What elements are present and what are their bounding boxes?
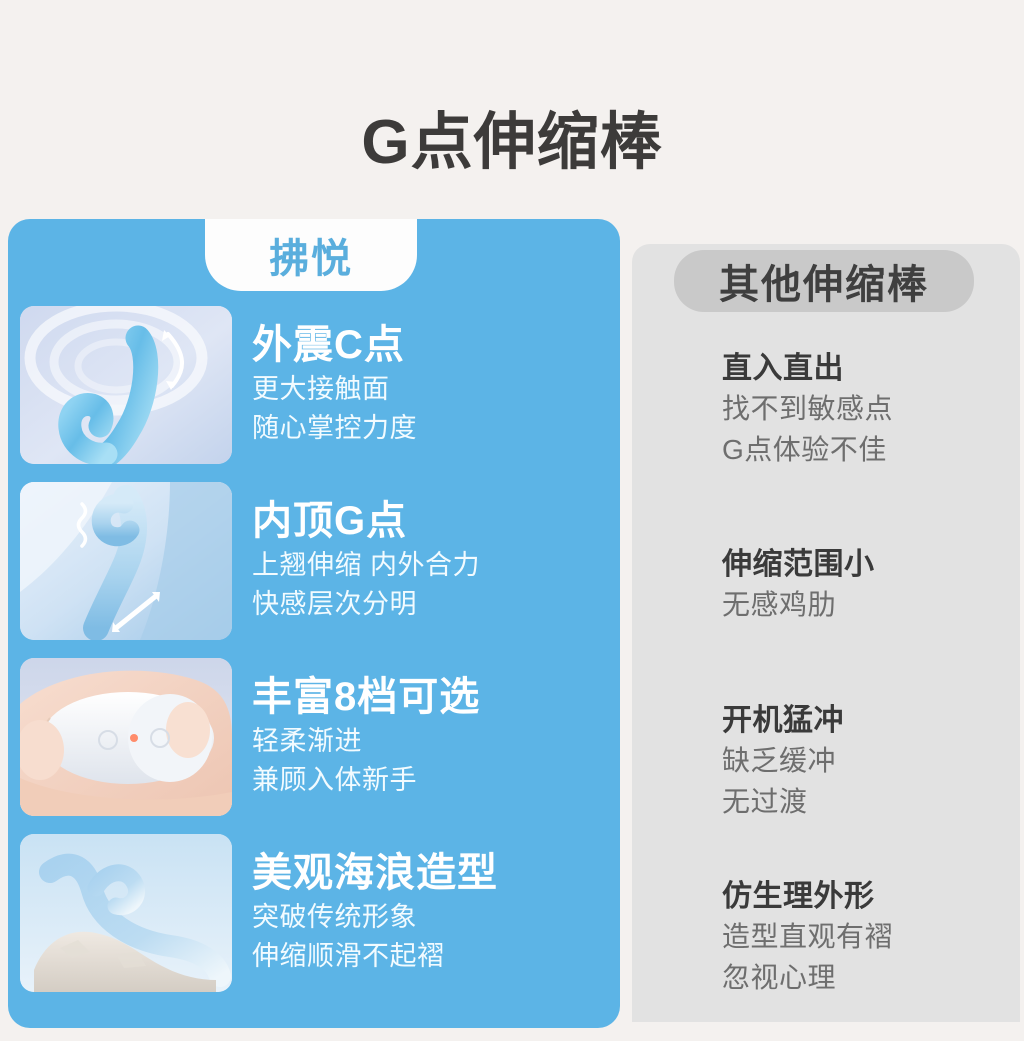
other-sub-line: 缺乏缓冲 bbox=[722, 742, 1020, 780]
brand-comparison-panel: 拂悦 bbox=[8, 219, 620, 1028]
other-row: 开机猛冲 缺乏缓冲 无过渡 bbox=[632, 674, 1020, 850]
brand-tab[interactable]: 拂悦 bbox=[205, 219, 417, 291]
feature-text: 丰富8档可选 轻柔渐进 兼顾入体新手 bbox=[252, 675, 620, 799]
other-row: 伸缩范围小 无感鸡肋 bbox=[632, 498, 1020, 674]
feature-sub-line: 轻柔渐进 bbox=[252, 724, 620, 760]
other-title: 开机猛冲 bbox=[722, 703, 1020, 739]
feature-text: 内顶G点 上翘伸缩 内外合力 快感层次分明 bbox=[252, 499, 620, 623]
other-sub-line: 忽视心理 bbox=[722, 959, 1020, 997]
feature-sub-line: 快感层次分明 bbox=[252, 587, 620, 623]
feature-sub-line: 突破传统形象 bbox=[252, 900, 620, 936]
feature-text: 外震C点 更大接触面 随心掌控力度 bbox=[252, 323, 620, 447]
product-image-wave-shape-on-rock bbox=[20, 834, 232, 992]
other-sub-line: 无过渡 bbox=[722, 783, 1020, 821]
feature-row: 内顶G点 上翘伸缩 内外合力 快感层次分明 bbox=[8, 473, 620, 649]
other-sub-line: 无感鸡肋 bbox=[722, 586, 1020, 624]
other-products-badge: 其他伸缩棒 bbox=[674, 250, 974, 312]
feature-sub-line: 兼顾入体新手 bbox=[252, 763, 620, 799]
feature-sub-line: 上翘伸缩 内外合力 bbox=[252, 548, 620, 584]
other-products-badge-label: 其他伸缩棒 bbox=[719, 252, 929, 310]
product-image-external-vibration bbox=[20, 306, 232, 464]
feature-row: 外震C点 更大接触面 随心掌控力度 bbox=[8, 297, 620, 473]
feature-title: 美观海浪造型 bbox=[252, 851, 620, 896]
feature-sub-line: 更大接触面 bbox=[252, 372, 620, 408]
feature-title: 内顶G点 bbox=[252, 499, 620, 544]
other-row: 仿生理外形 造型直观有褶 忽视心理 bbox=[632, 850, 1020, 1026]
other-sub-line: 找不到敏感点 bbox=[722, 390, 1020, 428]
brand-tab-label: 拂悦 bbox=[269, 226, 353, 284]
feature-title: 外震C点 bbox=[252, 323, 620, 368]
feature-row: 丰富8档可选 轻柔渐进 兼顾入体新手 bbox=[8, 649, 620, 825]
page-title: G点伸缩棒 bbox=[0, 112, 1024, 174]
feature-row: 美观海浪造型 突破传统形象 伸缩顺滑不起褶 bbox=[8, 825, 620, 1001]
other-row: 直入直出 找不到敏感点 G点体验不佳 bbox=[632, 322, 1020, 498]
other-sub-line: G点体验不佳 bbox=[722, 431, 1020, 469]
feature-sub-line: 伸缩顺滑不起褶 bbox=[252, 939, 620, 975]
other-drawback-list: 直入直出 找不到敏感点 G点体验不佳 伸缩范围小 无感鸡肋 开机猛冲 缺乏缓冲 … bbox=[632, 322, 1020, 1026]
other-sub-line: 造型直观有褶 bbox=[722, 918, 1020, 956]
other-title: 伸缩范围小 bbox=[722, 547, 1020, 583]
feature-sub-line: 随心掌控力度 bbox=[252, 411, 620, 447]
product-image-internal-g-spot bbox=[20, 482, 232, 640]
feature-text: 美观海浪造型 突破传统形象 伸缩顺滑不起褶 bbox=[252, 851, 620, 975]
other-products-panel: 其他伸缩棒 直入直出 找不到敏感点 G点体验不佳 伸缩范围小 无感鸡肋 开机猛冲… bbox=[632, 244, 1020, 1022]
brand-feature-list: 外震C点 更大接触面 随心掌控力度 bbox=[8, 297, 620, 1001]
feature-title: 丰富8档可选 bbox=[252, 675, 620, 720]
product-image-eight-speeds-in-hand bbox=[20, 658, 232, 816]
other-title: 直入直出 bbox=[722, 351, 1020, 387]
other-title: 仿生理外形 bbox=[722, 879, 1020, 915]
